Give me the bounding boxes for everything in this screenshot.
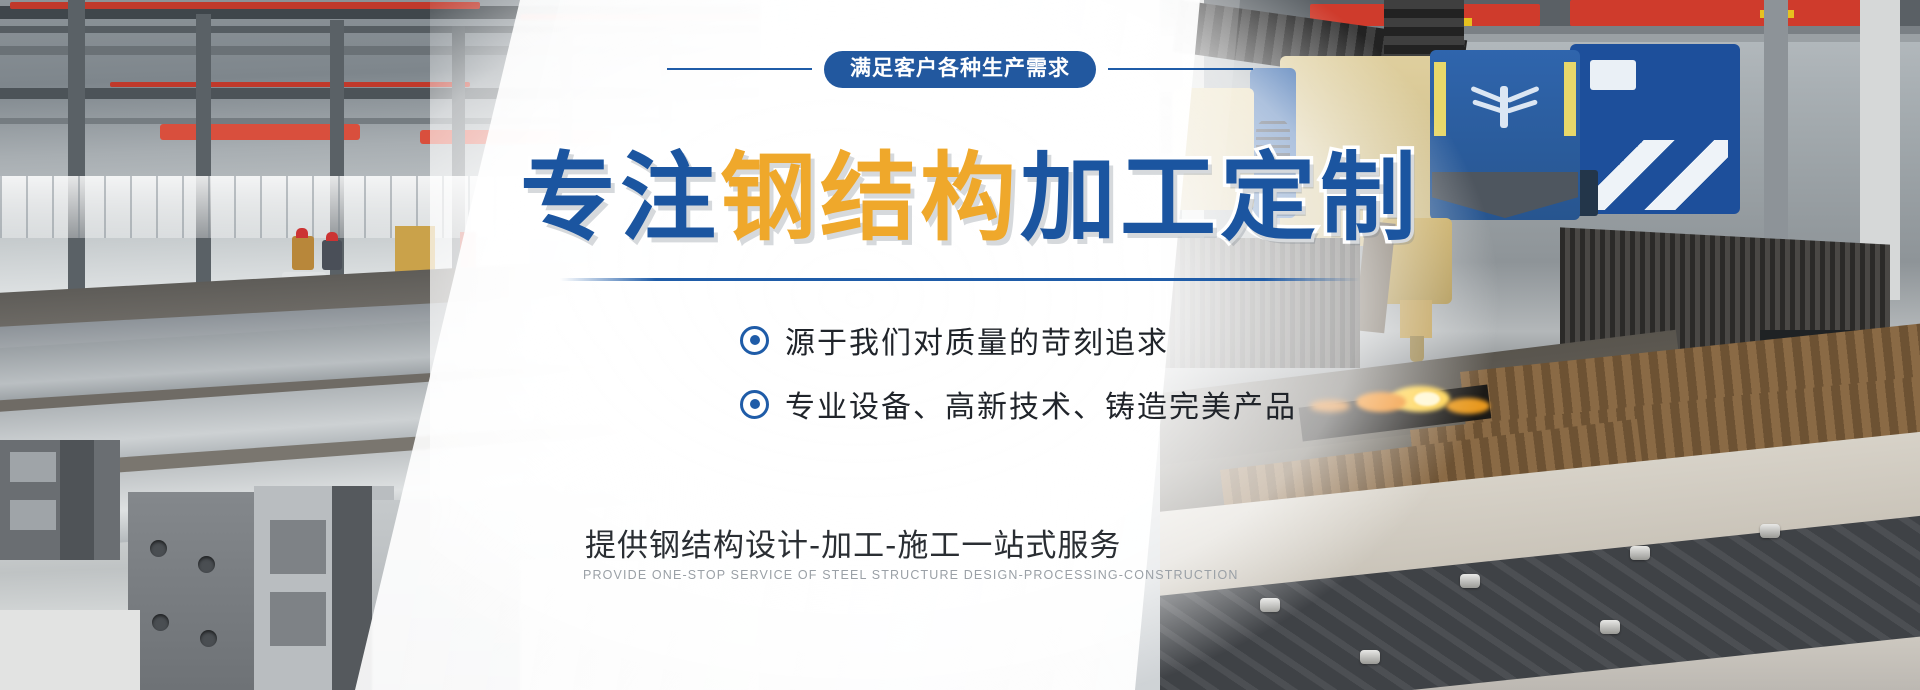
bullet-ring-icon (740, 390, 769, 419)
bullet-label: 源于我们对质量的苛刻追求 (785, 318, 1169, 362)
eyebrow-pill: 满足客户各种生产需求 (824, 51, 1096, 88)
eyebrow-row: 满足客户各种生产需求 (520, 47, 1400, 91)
headline: 专注钢结构加工定制 (520, 148, 1400, 249)
bullet-ring-icon (740, 326, 769, 355)
banner-content: 满足客户各种生产需求 专注钢结构加工定制 源于我们对质量的苛刻追求 专业设备、高… (0, 0, 1920, 690)
eyebrow-rule-left (667, 68, 812, 70)
list-item: 专业设备、高新技术、铸造完美产品 (740, 382, 1297, 426)
eyebrow-rule-right (1108, 68, 1253, 70)
list-item: 源于我们对质量的苛刻追求 (740, 318, 1297, 362)
bullet-label: 专业设备、高新技术、铸造完美产品 (785, 382, 1297, 426)
headline-part-3: 加工定制 (1020, 148, 1420, 249)
headline-part-2: 钢结构 (720, 148, 1020, 249)
headline-part-1: 专注 (520, 148, 720, 249)
headline-underline (560, 278, 1360, 281)
hero-banner: 满足客户各种生产需求 专注钢结构加工定制 源于我们对质量的苛刻追求 专业设备、高… (0, 0, 1920, 690)
tagline-english: PROVIDE ONE-STOP SERVICE OF STEEL STRUCT… (583, 568, 1383, 582)
tagline: 提供钢结构设计-加工-施工一站式服务 (585, 520, 1345, 565)
bullet-list: 源于我们对质量的苛刻追求 专业设备、高新技术、铸造完美产品 (740, 318, 1297, 446)
